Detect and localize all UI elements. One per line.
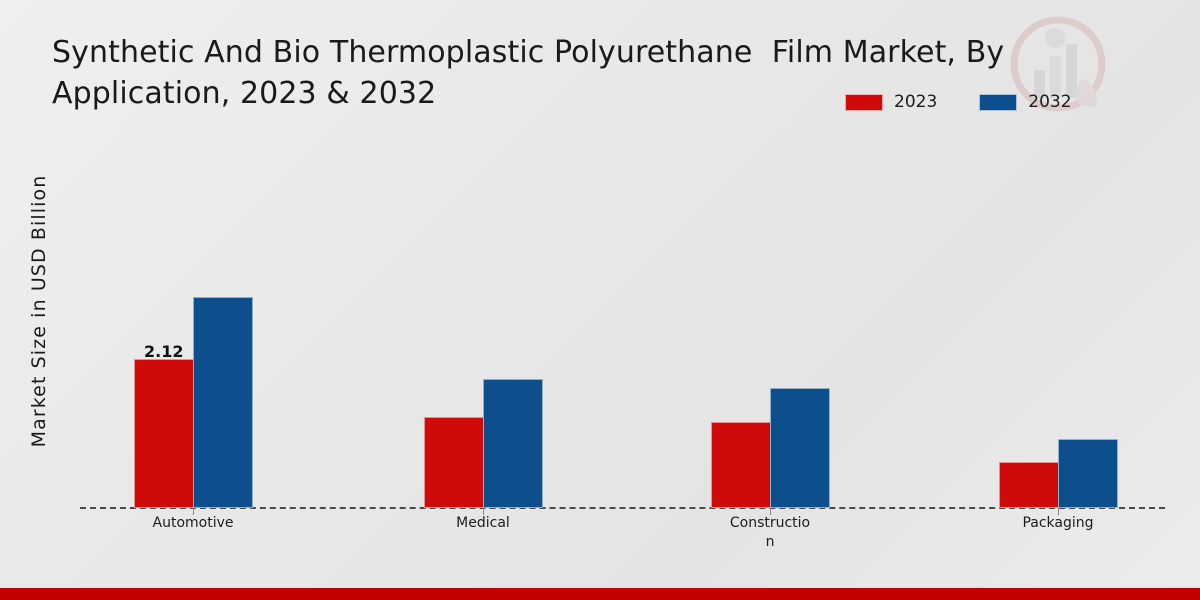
category-label-medical: Medical xyxy=(423,514,543,533)
y-axis-title: Market Size in USD Billion xyxy=(28,146,50,476)
legend-label-2023: 2023 xyxy=(894,92,937,112)
axis-tick-construction xyxy=(770,508,771,515)
chart-legend: 2023 2032 xyxy=(845,92,1072,112)
bar-automotive-2032 xyxy=(193,297,253,508)
legend-label-2032: 2032 xyxy=(1028,92,1071,112)
category-label-construction: Constructio n xyxy=(710,514,830,552)
bar-construction-2023 xyxy=(711,422,771,508)
bar-medical-2023 xyxy=(424,417,484,508)
axis-tick-packaging xyxy=(1058,508,1059,515)
legend-swatch-2023 xyxy=(845,94,883,111)
axis-tick-medical xyxy=(483,508,484,515)
category-label-automotive: Automotive xyxy=(133,514,253,533)
bottom-accent-band xyxy=(0,588,1200,600)
axis-baseline xyxy=(80,507,1165,509)
bar-packaging-2023 xyxy=(999,462,1059,508)
bar-automotive-2023 xyxy=(134,359,194,508)
bar-medical-2032 xyxy=(483,379,543,508)
legend-swatch-2032 xyxy=(979,94,1017,111)
legend-item-2023[interactable]: 2023 xyxy=(845,92,937,112)
category-label-packaging: Packaging xyxy=(998,514,1118,533)
legend-item-2032[interactable]: 2032 xyxy=(979,92,1071,112)
bar-value-label-automotive-2023: 2.12 xyxy=(144,342,183,361)
axis-tick-automotive xyxy=(193,508,194,515)
bar-construction-2032 xyxy=(770,388,830,508)
chart-infographic: Synthetic And Bio Thermoplastic Polyuret… xyxy=(0,0,1200,600)
bar-packaging-2032 xyxy=(1058,439,1118,508)
